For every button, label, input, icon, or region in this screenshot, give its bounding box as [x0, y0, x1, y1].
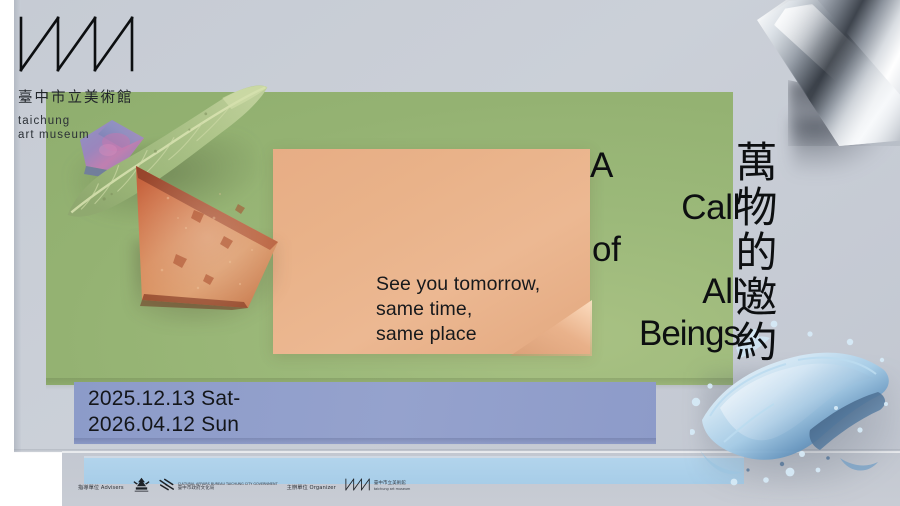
exhibition-title-en: A Call of All Beings [588, 146, 740, 354]
exhibition-tagline: See you tomorrow, same time, same place [376, 272, 540, 347]
museum-name-cn: 臺中市立美術館 [18, 86, 168, 107]
title-en-line-2: Call [588, 188, 740, 228]
cultural-affairs-name-cn: 臺中市政府文化局 [178, 487, 278, 492]
taichung-art-museum-zigzag-logo-icon [18, 16, 168, 77]
footer-museum-name-en: taichung art museum [374, 487, 411, 492]
credit-label-organizer: 主辦單位 Organizer [287, 484, 336, 491]
credit-org-taichung-art-museum: 臺中市立美術館 taichung art museum [345, 478, 411, 496]
exhibition-dates: 2025.12.13 Sat- 2026.04.12 Sun [88, 386, 240, 437]
date-band-shadow [74, 438, 656, 445]
credit-org-cultural-affairs-bureau: CULTURAL AFFAIRS BUREAU TAICHUNG CITY GO… [159, 478, 278, 496]
footer-credits: 指導單位 Advisers [78, 474, 410, 500]
credit-label-advisers: 指導單位 Advisers [78, 484, 124, 491]
ministry-of-culture-mark-icon [133, 477, 150, 497]
museum-identity: 臺中市立美術館 taichung art museum [18, 16, 168, 142]
date-start: 2025.12.13 Sat- [88, 386, 240, 412]
title-en-line-4: All [588, 272, 740, 312]
title-en-line-1: A [590, 146, 740, 186]
tagline-line-2: same time, [376, 297, 540, 322]
credit-org-ministry-of-culture [133, 477, 150, 497]
museum-name-en: taichung art museum [18, 114, 168, 142]
paper-curl-cast-shadow [792, 118, 888, 174]
date-end: 2026.04.12 Sun [88, 412, 240, 438]
tagline-line-1: See you tomorrow, [376, 272, 540, 297]
tagline-line-3: same place [376, 322, 540, 347]
museum-name-en-line2: art museum [18, 128, 168, 142]
exhibition-title-cn: 萬物的邀約 [728, 140, 779, 365]
museum-name-en-line1: taichung [18, 114, 168, 128]
taichung-art-museum-zigzag-logo-icon-footer [345, 478, 371, 496]
taichung-cultural-affairs-mark-icon [159, 478, 175, 496]
title-en-line-3: of [592, 230, 740, 270]
clay-fragment [128, 158, 290, 310]
poster-canvas: 臺中市立美術館 taichung art museum A Call of Al… [0, 0, 900, 506]
title-en-line-5: Beings [588, 314, 740, 354]
